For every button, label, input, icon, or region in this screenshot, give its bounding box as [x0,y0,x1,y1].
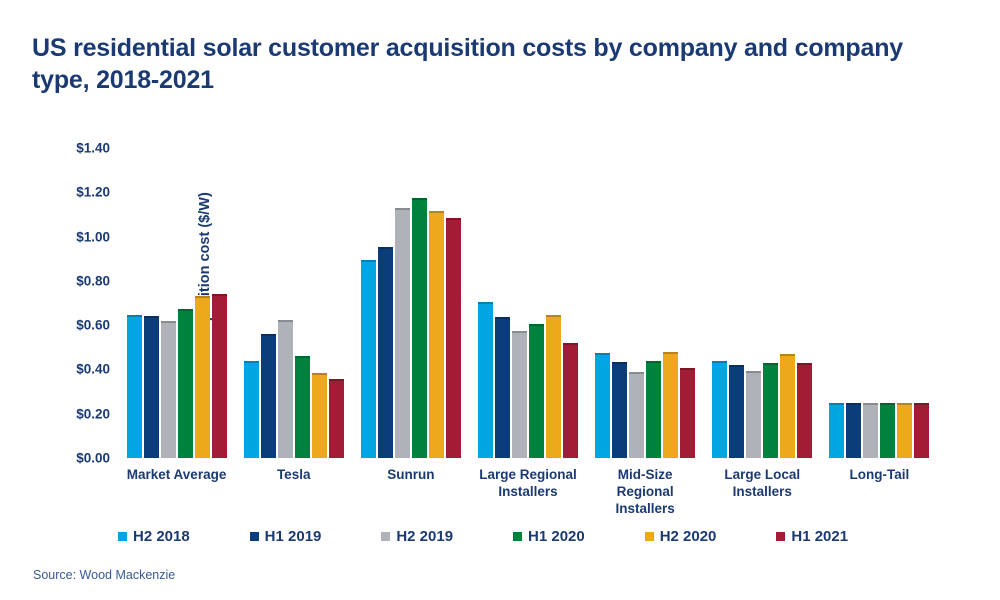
bar[interactable] [295,356,310,458]
y-axis-tick-label: $1.40 [76,141,110,156]
bar[interactable] [429,211,444,458]
bar[interactable] [729,365,744,458]
bar[interactable] [478,302,493,458]
legend-swatch-icon [118,532,127,541]
bar[interactable] [797,363,812,458]
bar[interactable] [780,354,795,458]
legend-swatch-icon [513,532,522,541]
legend-label: H2 2020 [660,528,717,545]
bar-group-bars [244,148,344,458]
bar[interactable] [595,353,610,458]
bar-groups: Market AverageTeslaSunrunLarge Regional … [118,148,938,458]
bar[interactable] [127,315,142,458]
legend-label: H1 2020 [528,528,585,545]
bar-group-bars [478,148,578,458]
bar-group: Large Local Installers [704,148,821,458]
bar[interactable] [629,372,644,458]
bar[interactable] [680,368,695,458]
bar-group: Market Average [118,148,235,458]
bar[interactable] [312,373,327,458]
bar[interactable] [612,362,627,458]
legend-label: H2 2018 [133,528,190,545]
bar[interactable] [144,316,159,458]
x-axis-category-label: Market Average [121,467,233,484]
x-axis-category-label: Tesla [238,467,350,484]
bar-group: Long-Tail [821,148,938,458]
chart-legend: H2 2018H1 2019H2 2019H1 2020H2 2020H1 20… [118,528,908,545]
legend-item[interactable]: H1 2021 [776,528,908,545]
bar[interactable] [495,317,510,458]
y-axis-tick-label: $1.20 [76,185,110,200]
bar[interactable] [897,403,912,458]
legend-item[interactable]: H1 2019 [250,528,382,545]
x-axis-category-label: Mid-Size Regional Installers [589,467,701,518]
legend-label: H2 2019 [396,528,453,545]
legend-swatch-icon [776,532,785,541]
legend-label: H1 2021 [791,528,848,545]
chart-plot-area: Customer acquisition cost ($/W) $1.40$1.… [118,148,938,458]
x-axis-category-label: Long-Tail [823,467,935,484]
bar[interactable] [563,343,578,458]
y-axis-tick-label: $0.60 [76,318,110,333]
bar[interactable] [646,361,661,458]
source-note: Source: Wood Mackenzie [33,568,175,582]
bar[interactable] [212,294,227,458]
bar[interactable] [195,296,210,458]
y-axis-tick-label: $0.80 [76,273,110,288]
bar-group-bars [127,148,227,458]
bar[interactable] [512,331,527,458]
bar[interactable] [914,403,929,458]
bar-group-bars [361,148,461,458]
bar-group-bars [829,148,929,458]
bar[interactable] [329,379,344,458]
bar[interactable] [395,208,410,458]
y-axis-tick-label: $0.00 [76,451,110,466]
x-axis-category-label: Sunrun [355,467,467,484]
bar[interactable] [846,403,861,458]
bar[interactable] [663,352,678,458]
bar[interactable] [244,361,259,458]
bar[interactable] [446,218,461,458]
x-axis-category-label: Large Regional Installers [472,467,584,501]
legend-item[interactable]: H1 2020 [513,528,645,545]
bar[interactable] [278,320,293,458]
legend-item[interactable]: H2 2019 [381,528,513,545]
bar-group-bars [595,148,695,458]
page-title: US residential solar customer acquisitio… [32,32,912,96]
bar[interactable] [880,403,895,458]
legend-item[interactable]: H2 2020 [645,528,777,545]
bar[interactable] [746,371,761,458]
bar-group: Mid-Size Regional Installers [587,148,704,458]
bar-group: Large Regional Installers [469,148,586,458]
bar-group-bars [712,148,812,458]
bar[interactable] [712,361,727,458]
bar-group: Sunrun [352,148,469,458]
legend-item[interactable]: H2 2018 [118,528,250,545]
bar[interactable] [361,260,376,458]
y-axis-tick-label: $1.00 [76,229,110,244]
bar[interactable] [261,334,276,458]
bar[interactable] [863,403,878,458]
bar[interactable] [763,363,778,458]
bar[interactable] [529,324,544,458]
bar[interactable] [178,309,193,458]
x-axis-category-label: Large Local Installers [706,467,818,501]
y-axis-tick-label: $0.40 [76,362,110,377]
bar[interactable] [546,315,561,458]
y-axis-tick-label: $0.20 [76,406,110,421]
legend-swatch-icon [250,532,259,541]
legend-swatch-icon [381,532,390,541]
bar[interactable] [161,321,176,458]
bar[interactable] [378,247,393,458]
legend-swatch-icon [645,532,654,541]
bar[interactable] [829,403,844,458]
bar[interactable] [412,198,427,458]
bar-group: Tesla [235,148,352,458]
legend-label: H1 2019 [265,528,322,545]
